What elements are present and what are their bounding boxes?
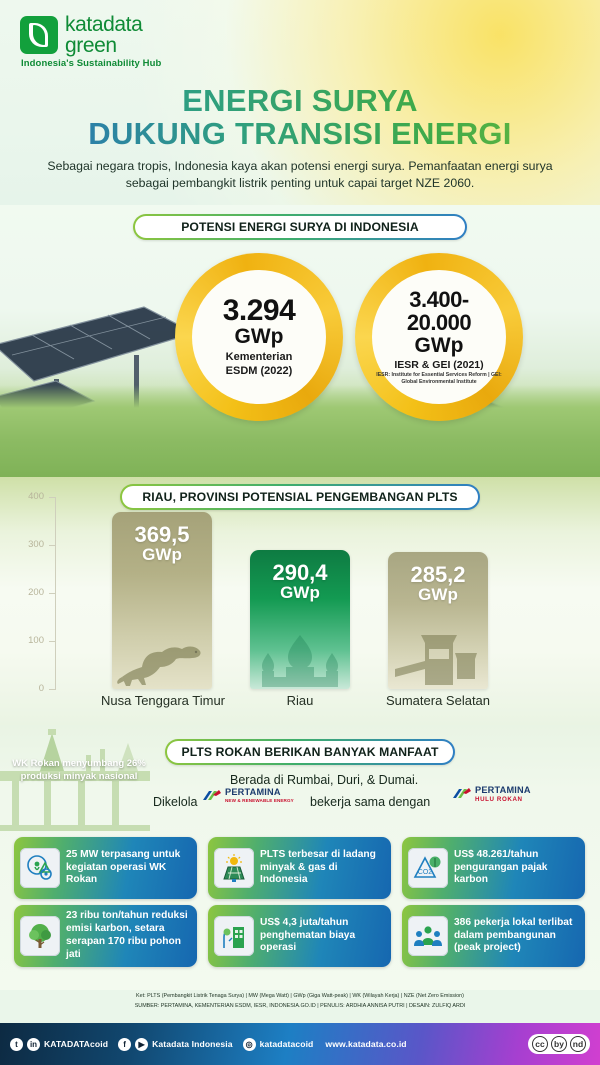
potensi-fineprint-2: IESR: Institute for Essential Services R… — [376, 372, 502, 385]
rokan-managed-label: Dikelola — [153, 795, 197, 809]
y-tick-200 — [49, 593, 56, 594]
potensi-unit-1: GWp — [235, 326, 284, 348]
potensi-source-1-line1: Kementerian — [226, 351, 293, 364]
footer-group-ig: ◎ katadatacoid — [243, 1038, 314, 1051]
rokan-section: WK Rokan menyumbang 26% produksi minyak … — [0, 725, 600, 990]
potensi-circle-2: 3.400- 20.000 GWp IESR & GEI (2021) IESR… — [355, 253, 523, 421]
y-label-300: 300 — [14, 539, 44, 550]
benefit-card-3-text: US$ 48.261/tahun pengurangan pajak karbo… — [454, 849, 579, 888]
footer-handle-ig: katadatacoid — [260, 1039, 314, 1049]
facebook-icon[interactable]: f — [118, 1038, 131, 1051]
benefit-card-3[interactable]: CO2 US$ 48.261/tahun pengurangan pajak k… — [402, 837, 585, 899]
potensi-source-1-line2: ESDM (2022) — [226, 365, 293, 378]
footnote-keterangan: Ket: PLTS (Pembangkit Listrik Tenaga Sur… — [0, 992, 600, 1000]
page-title: ENERGI SURYA DUKUNG TRANSISI ENERGI — [0, 84, 600, 151]
potensi-unit-2: GWp — [415, 335, 464, 357]
sustainability-gear-icon — [20, 848, 60, 888]
benefit-card-2[interactable]: PLTS terbesar di ladang minyak & gas di … — [208, 837, 391, 899]
benefit-card-5-text: US$ 4,3 juta/tahun penghematan biaya ope… — [260, 917, 385, 956]
solar-panel-icon — [214, 848, 254, 888]
benefit-card-4[interactable]: 23 ribu ton/tahun reduksi emisi karbon, … — [14, 905, 197, 967]
potensi-value-1: 3.294 — [223, 296, 296, 326]
potensi-section: POTENSI ENERGI SURYA DI INDONESIA 3.294 … — [0, 205, 600, 477]
bar-unit-2: GWp — [280, 584, 320, 603]
creative-commons-badges: cc by nd — [528, 1034, 590, 1054]
bar-value-3: 285,2 — [410, 564, 465, 586]
mosque-icon — [252, 631, 348, 687]
y-tick-300 — [49, 545, 56, 546]
potensi-circle-2-inner: 3.400- 20.000 GWp IESR & GEI (2021) IESR… — [372, 270, 506, 404]
benefit-card-4-text: 23 ribu ton/tahun reduksi emisi karbon, … — [66, 910, 191, 962]
footer-website[interactable]: www.katadata.co.id — [325, 1039, 406, 1049]
chart-section: RIAU, PROVINSI POTENSIAL PENGEMBANGAN PL… — [0, 477, 600, 725]
bar-unit-3: GWp — [418, 586, 458, 605]
cc-by-icon: by — [551, 1036, 567, 1052]
y-label-100: 100 — [14, 635, 44, 646]
pertamina-nre-name: PERTAMINA — [225, 788, 294, 797]
title-line-2: DUKUNG TRANSISI ENERGI — [0, 117, 600, 150]
cost-saving-icon — [214, 916, 254, 956]
x-label-1: Nusa Tenggara Timur — [82, 693, 244, 708]
rokan-partner-label: bekerja sama dengan — [310, 795, 430, 809]
svg-text:CO2: CO2 — [418, 869, 433, 876]
x-label-3: Sumatera Selatan — [370, 693, 506, 708]
infographic-page: katadata green Indonesia's Sustainabilit… — [0, 0, 600, 1065]
bar-sumatera-selatan[interactable]: 285,2 GWp — [388, 552, 488, 689]
pertamina-hulu-rokan-logo: PERTAMINA HULU ROKAN — [452, 786, 531, 803]
page-subtitle: Sebagai negara tropis, Indonesia kaya ak… — [34, 158, 566, 193]
brand-name-line2: green — [65, 35, 142, 56]
potensi-value-2-line1: 3.400- — [409, 289, 468, 312]
benefit-card-1[interactable]: 25 MW terpasang untuk kegiatan operasi W… — [14, 837, 197, 899]
y-label-200: 200 — [14, 587, 44, 598]
section-heading-rokan: PLTS ROKAN BERIKAN BANYAK MANFAAT — [165, 739, 455, 765]
bar-unit-1: GWp — [142, 546, 182, 565]
potensi-value-2-line2: 20.000 — [407, 312, 471, 335]
footer-handle-social: KATADATAcoid — [44, 1039, 108, 1049]
brand-logo[interactable]: katadata green — [20, 14, 142, 56]
tree-icon — [20, 916, 60, 956]
y-tick-0 — [49, 689, 56, 690]
linkedin-icon[interactable]: in — [27, 1038, 40, 1051]
y-label-0: 0 — [14, 683, 44, 694]
footnote-sumber: SUMBER: PERTAMINA, KEMENTERIAN ESDM, IES… — [0, 1002, 600, 1010]
benefit-card-2-text: PLTS terbesar di ladang minyak & gas di … — [260, 849, 385, 888]
brand-name-line1: katadata — [65, 14, 142, 35]
potensi-circle-1: 3.294 GWp Kementerian ESDM (2022) — [175, 253, 343, 421]
benefit-card-5[interactable]: US$ 4,3 juta/tahun penghematan biaya ope… — [208, 905, 391, 967]
bar-nusa-tenggara-timur[interactable]: 369,5 GWp — [112, 512, 212, 689]
pertamina-hr-sub: HULU ROKAN — [475, 797, 531, 803]
benefit-card-1-text: 25 MW terpasang untuk kegiatan operasi W… — [66, 849, 191, 888]
pertamina-arrow-icon-2 — [452, 787, 472, 801]
rig-caption: WK Rokan menyumbang 26% produksi minyak … — [4, 758, 154, 784]
youtube-icon[interactable]: ▶ — [135, 1038, 148, 1051]
x-label-2: Riau — [250, 693, 350, 708]
cc-nd-icon: nd — [570, 1036, 586, 1052]
pertamina-nre-wordmark: PERTAMINA NEW & RENEWABLE ENERGY — [225, 788, 294, 803]
y-tick-100 — [49, 641, 56, 642]
bar-chart: 400 300 200 100 0 369,5 GWp 290,4 GWp — [0, 477, 600, 725]
footer-group-page: f ▶ Katadata Indonesia — [118, 1038, 233, 1051]
potensi-circle-1-inner: 3.294 GWp Kementerian ESDM (2022) — [192, 270, 326, 404]
header-band: katadata green Indonesia's Sustainabilit… — [0, 0, 600, 205]
footer-bar: t in KATADATAcoid f ▶ Katadata Indonesia… — [0, 1023, 600, 1065]
y-tick-400 — [49, 497, 56, 498]
local-workers-icon — [408, 916, 448, 956]
title-line-1: ENERGI SURYA — [0, 84, 600, 117]
section-heading-potensi: POTENSI ENERGI SURYA DI INDONESIA — [133, 214, 467, 240]
brand-tagline: Indonesia's Sustainability Hub — [21, 58, 161, 69]
footer-group-social: t in KATADATAcoid — [10, 1038, 108, 1051]
potensi-source-2: IESR & GEI (2021) — [394, 359, 483, 372]
bar-value-2: 290,4 — [272, 562, 327, 584]
pertamina-hr-name: PERTAMINA — [475, 786, 531, 795]
pertamina-nre-sub: NEW & RENEWABLE ENERGY — [225, 799, 294, 804]
pertamina-hr-wordmark: PERTAMINA HULU ROKAN — [475, 786, 531, 803]
benefit-card-6-text: 386 pekerja lokal terlibat dalam pembang… — [454, 917, 579, 956]
co2-reduction-icon: CO2 — [408, 848, 448, 888]
footer-handle-page: Katadata Indonesia — [152, 1039, 233, 1049]
komodo-dragon-icon — [116, 625, 208, 687]
pertamina-arrow-icon — [202, 789, 222, 803]
pertamina-nre-logo: PERTAMINA NEW & RENEWABLE ENERGY — [202, 788, 294, 803]
bar-riau[interactable]: 290,4 GWp — [250, 550, 350, 689]
twitter-icon[interactable]: t — [10, 1038, 23, 1051]
katadata-leaf-logo-icon — [20, 16, 58, 54]
y-label-400: 400 — [14, 491, 44, 502]
benefit-card-6[interactable]: 386 pekerja lokal terlibat dalam pembang… — [402, 905, 585, 967]
section-heading-chart: RIAU, PROVINSI POTENSIAL PENGEMBANGAN PL… — [120, 484, 480, 510]
cc-icon: cc — [532, 1036, 548, 1052]
rokan-location-text: Berada di Rumbai, Duri, & Dumai. — [230, 773, 418, 787]
instagram-icon[interactable]: ◎ — [243, 1038, 256, 1051]
traditional-house-icon — [391, 631, 485, 687]
bar-value-1: 369,5 — [134, 524, 189, 546]
brand-wordmark: katadata green — [65, 14, 142, 56]
